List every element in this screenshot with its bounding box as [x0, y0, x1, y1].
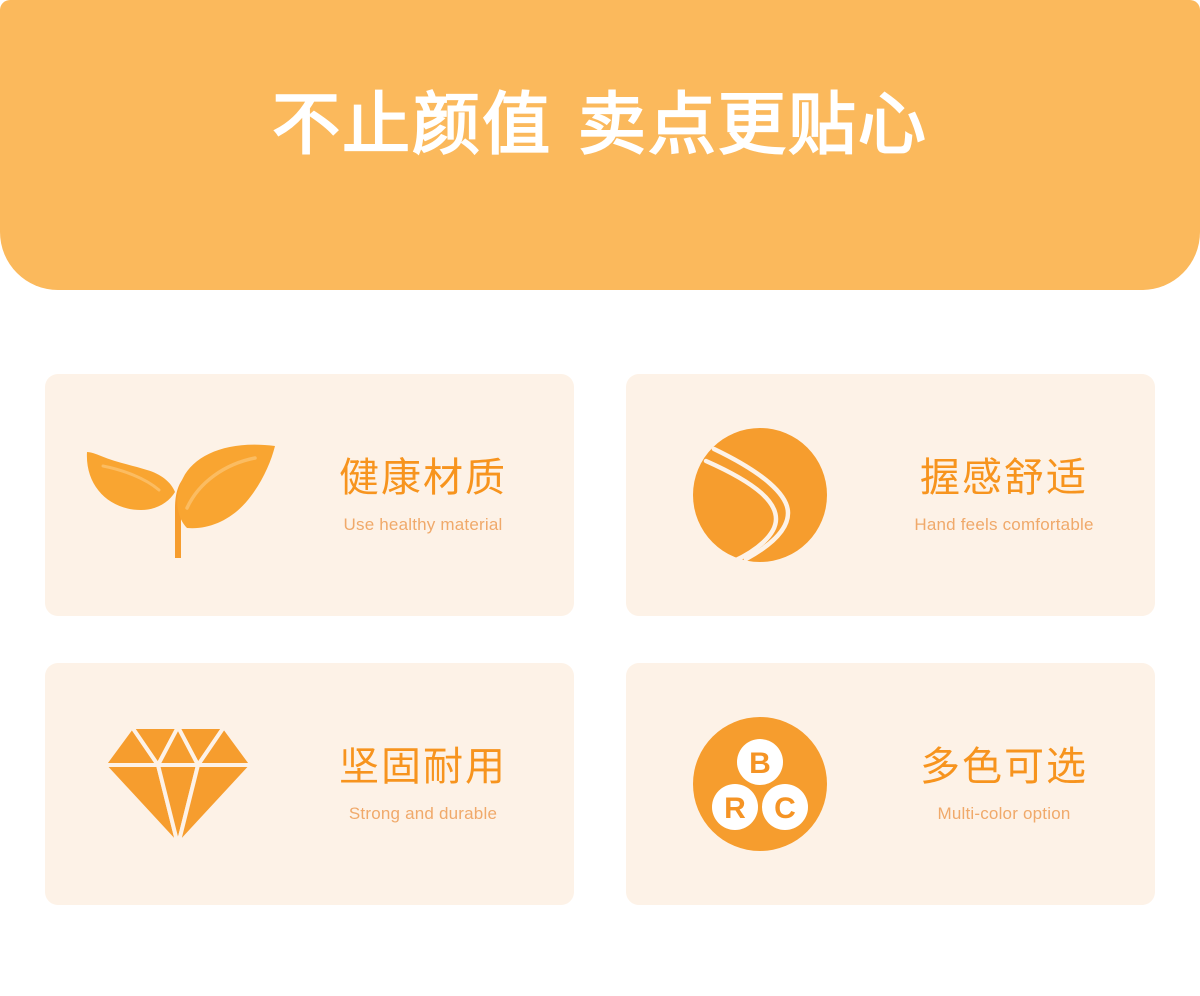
feature-title: 握感舒适	[920, 456, 1088, 500]
multicolor-brc-icon: B R C	[652, 694, 867, 874]
diamond-icon	[71, 694, 286, 874]
feature-subtitle: Strong and durable	[349, 805, 497, 824]
feature-card-text: 健康材质 Use healthy material	[286, 456, 574, 535]
feature-subtitle: Use healthy material	[344, 516, 503, 535]
header-banner: 不止颜值 卖点更贴心	[0, 0, 1200, 290]
page-title: 不止颜值 卖点更贴心	[272, 92, 928, 160]
feature-card-grid: 健康材质 Use healthy material 握感舒适 Hand feel…	[45, 374, 1155, 905]
feature-card-multicolor[interactable]: B R C 多色可选 Multi-color option	[626, 663, 1155, 905]
feature-title: 多色可选	[920, 745, 1088, 789]
color-badge-b-label: B	[749, 747, 771, 780]
feature-card-text: 多色可选 Multi-color option	[867, 745, 1155, 824]
feature-title: 健康材质	[339, 456, 507, 500]
feature-card-healthy-material[interactable]: 健康材质 Use healthy material	[45, 374, 574, 616]
feature-subtitle: Hand feels comfortable	[914, 516, 1093, 535]
grip-circle-icon	[652, 405, 867, 585]
color-badge-r-label: R	[724, 792, 746, 825]
feature-subtitle: Multi-color option	[937, 805, 1070, 824]
feature-card-text: 坚固耐用 Strong and durable	[286, 745, 574, 824]
feature-title: 坚固耐用	[339, 745, 507, 789]
feature-card-strong-durable[interactable]: 坚固耐用 Strong and durable	[45, 663, 574, 905]
sprout-leaf-icon	[71, 405, 286, 585]
feature-card-comfortable-grip[interactable]: 握感舒适 Hand feels comfortable	[626, 374, 1155, 616]
product-feature-page: 不止颜值 卖点更贴心 健康材质	[0, 0, 1200, 996]
feature-card-text: 握感舒适 Hand feels comfortable	[867, 456, 1155, 535]
color-badge-c-label: C	[774, 792, 796, 825]
